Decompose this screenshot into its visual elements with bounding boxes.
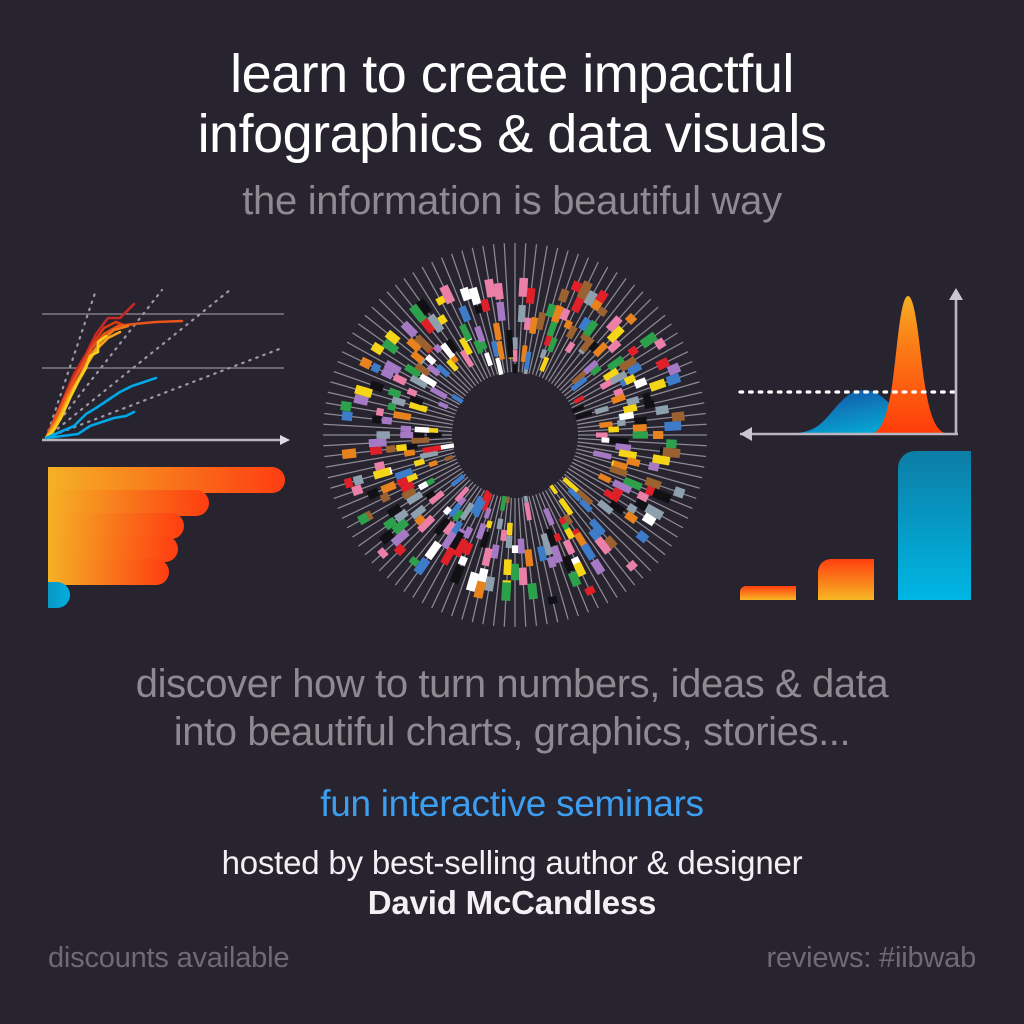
radial-spoke bbox=[404, 486, 479, 591]
radial-block bbox=[601, 437, 609, 442]
radial-block bbox=[627, 345, 639, 356]
radial-block bbox=[610, 437, 629, 444]
poster-canvas: learn to create impactful infographics &… bbox=[0, 0, 1024, 1024]
radial-block bbox=[342, 448, 357, 459]
radial-block bbox=[633, 424, 647, 432]
subtitle: the information is beautiful way bbox=[0, 178, 1024, 224]
radial-block bbox=[484, 279, 495, 298]
radial-block bbox=[359, 357, 373, 370]
radial-block bbox=[424, 540, 441, 560]
growth-line-chart bbox=[34, 282, 302, 458]
radial-block bbox=[547, 595, 558, 604]
radial-block bbox=[539, 357, 549, 372]
radial-block bbox=[506, 536, 513, 549]
radial-block bbox=[649, 378, 667, 391]
page-title: learn to create impactful infographics &… bbox=[0, 44, 1024, 164]
host-byline: hosted by best-selling author & designer bbox=[0, 843, 1024, 883]
radial-block bbox=[518, 539, 525, 554]
tagline-line-1: discover how to turn numbers, ideas & da… bbox=[0, 660, 1024, 708]
radial-block bbox=[414, 458, 425, 466]
radial-segment-chart bbox=[312, 232, 718, 638]
ranked-bar-chart bbox=[34, 462, 304, 612]
radial-block bbox=[652, 488, 672, 503]
radial-block bbox=[664, 421, 681, 431]
radial-block bbox=[527, 583, 538, 600]
radial-block bbox=[493, 323, 502, 341]
radial-block bbox=[341, 411, 352, 421]
radial-block bbox=[388, 387, 402, 398]
radial-block bbox=[430, 428, 438, 433]
radial-block bbox=[617, 420, 626, 427]
radial-block bbox=[524, 549, 533, 567]
comparison-bar-chart bbox=[722, 448, 990, 620]
radial-block bbox=[376, 408, 384, 417]
radial-block bbox=[558, 288, 570, 302]
radial-block bbox=[634, 377, 648, 389]
x-axis bbox=[42, 435, 290, 445]
host-name: David McCandless bbox=[0, 883, 1024, 923]
radial-block bbox=[369, 438, 387, 447]
tagline-line-2: into beautiful charts, graphics, stories… bbox=[0, 708, 1024, 756]
radial-block bbox=[400, 425, 411, 432]
radial-block bbox=[396, 444, 407, 452]
radial-block bbox=[511, 564, 519, 581]
radial-block bbox=[494, 283, 504, 300]
host-block: hosted by best-selling author & designer… bbox=[0, 843, 1024, 923]
series-lines bbox=[46, 304, 182, 438]
radial-block bbox=[619, 412, 634, 421]
radial-block bbox=[624, 511, 638, 524]
radial-block bbox=[411, 437, 429, 444]
bars bbox=[48, 467, 285, 608]
radial-block bbox=[596, 432, 608, 437]
radial-block bbox=[486, 520, 493, 528]
radial-block bbox=[428, 460, 438, 467]
radial-block bbox=[666, 439, 677, 448]
radial-block bbox=[392, 373, 407, 385]
radial-block bbox=[512, 545, 518, 553]
radial-block bbox=[655, 405, 669, 415]
radial-block bbox=[634, 417, 647, 425]
tagline: discover how to turn numbers, ideas & da… bbox=[0, 660, 1024, 756]
radial-block bbox=[518, 567, 527, 585]
radial-block bbox=[377, 431, 390, 438]
radial-block bbox=[626, 457, 640, 467]
radial-block bbox=[496, 302, 505, 322]
radial-block bbox=[653, 431, 663, 439]
seminars-label: fun interactive seminars bbox=[0, 783, 1024, 825]
radial-block bbox=[673, 486, 686, 498]
radial-block bbox=[450, 564, 465, 584]
radial-hub bbox=[453, 373, 577, 497]
radial-block bbox=[518, 278, 528, 297]
radial-block bbox=[407, 388, 418, 397]
radial-block bbox=[633, 431, 648, 438]
radial-block bbox=[513, 350, 518, 362]
radial-block bbox=[372, 415, 381, 424]
radial-block bbox=[500, 530, 507, 542]
radial-block bbox=[370, 446, 383, 455]
radial-block bbox=[501, 582, 511, 601]
radial-block bbox=[503, 559, 512, 575]
radial-block bbox=[608, 426, 619, 432]
radial-block bbox=[430, 386, 448, 399]
radial-block bbox=[518, 305, 526, 322]
radial-block bbox=[506, 330, 513, 349]
radial-block bbox=[666, 373, 681, 386]
headline-line-1: learn to create impactful bbox=[0, 44, 1024, 104]
radial-block bbox=[382, 416, 393, 424]
radial-block bbox=[353, 475, 364, 486]
radial-block bbox=[415, 427, 429, 433]
headline-line-2: infographics & data visuals bbox=[0, 104, 1024, 164]
radial-block bbox=[379, 529, 395, 544]
radial-block bbox=[412, 432, 424, 438]
radial-block bbox=[626, 396, 640, 406]
footer-discounts: discounts available bbox=[48, 942, 289, 975]
radial-block bbox=[590, 558, 605, 575]
radial-block bbox=[386, 445, 396, 453]
radial-block bbox=[406, 443, 417, 450]
radial-block bbox=[507, 523, 513, 536]
radial-block bbox=[370, 342, 384, 356]
radial-block bbox=[380, 481, 397, 494]
radial-block bbox=[427, 433, 442, 438]
radial-block bbox=[513, 364, 517, 373]
radial-block bbox=[400, 432, 413, 438]
radial-block bbox=[344, 477, 354, 488]
radial-block bbox=[671, 411, 684, 421]
radial-block bbox=[340, 401, 352, 412]
radial-block bbox=[636, 530, 650, 544]
radial-block bbox=[496, 518, 503, 529]
radial-block bbox=[367, 488, 380, 500]
bars bbox=[740, 451, 971, 600]
radial-block bbox=[584, 585, 596, 596]
footer-reviews: reviews: #iibwab bbox=[766, 942, 976, 975]
radial-block bbox=[512, 337, 517, 349]
radial-block bbox=[370, 362, 381, 373]
radial-block bbox=[380, 492, 391, 503]
distribution-curve-chart bbox=[722, 282, 990, 458]
radial-block bbox=[543, 508, 555, 526]
radial-block bbox=[393, 411, 411, 421]
